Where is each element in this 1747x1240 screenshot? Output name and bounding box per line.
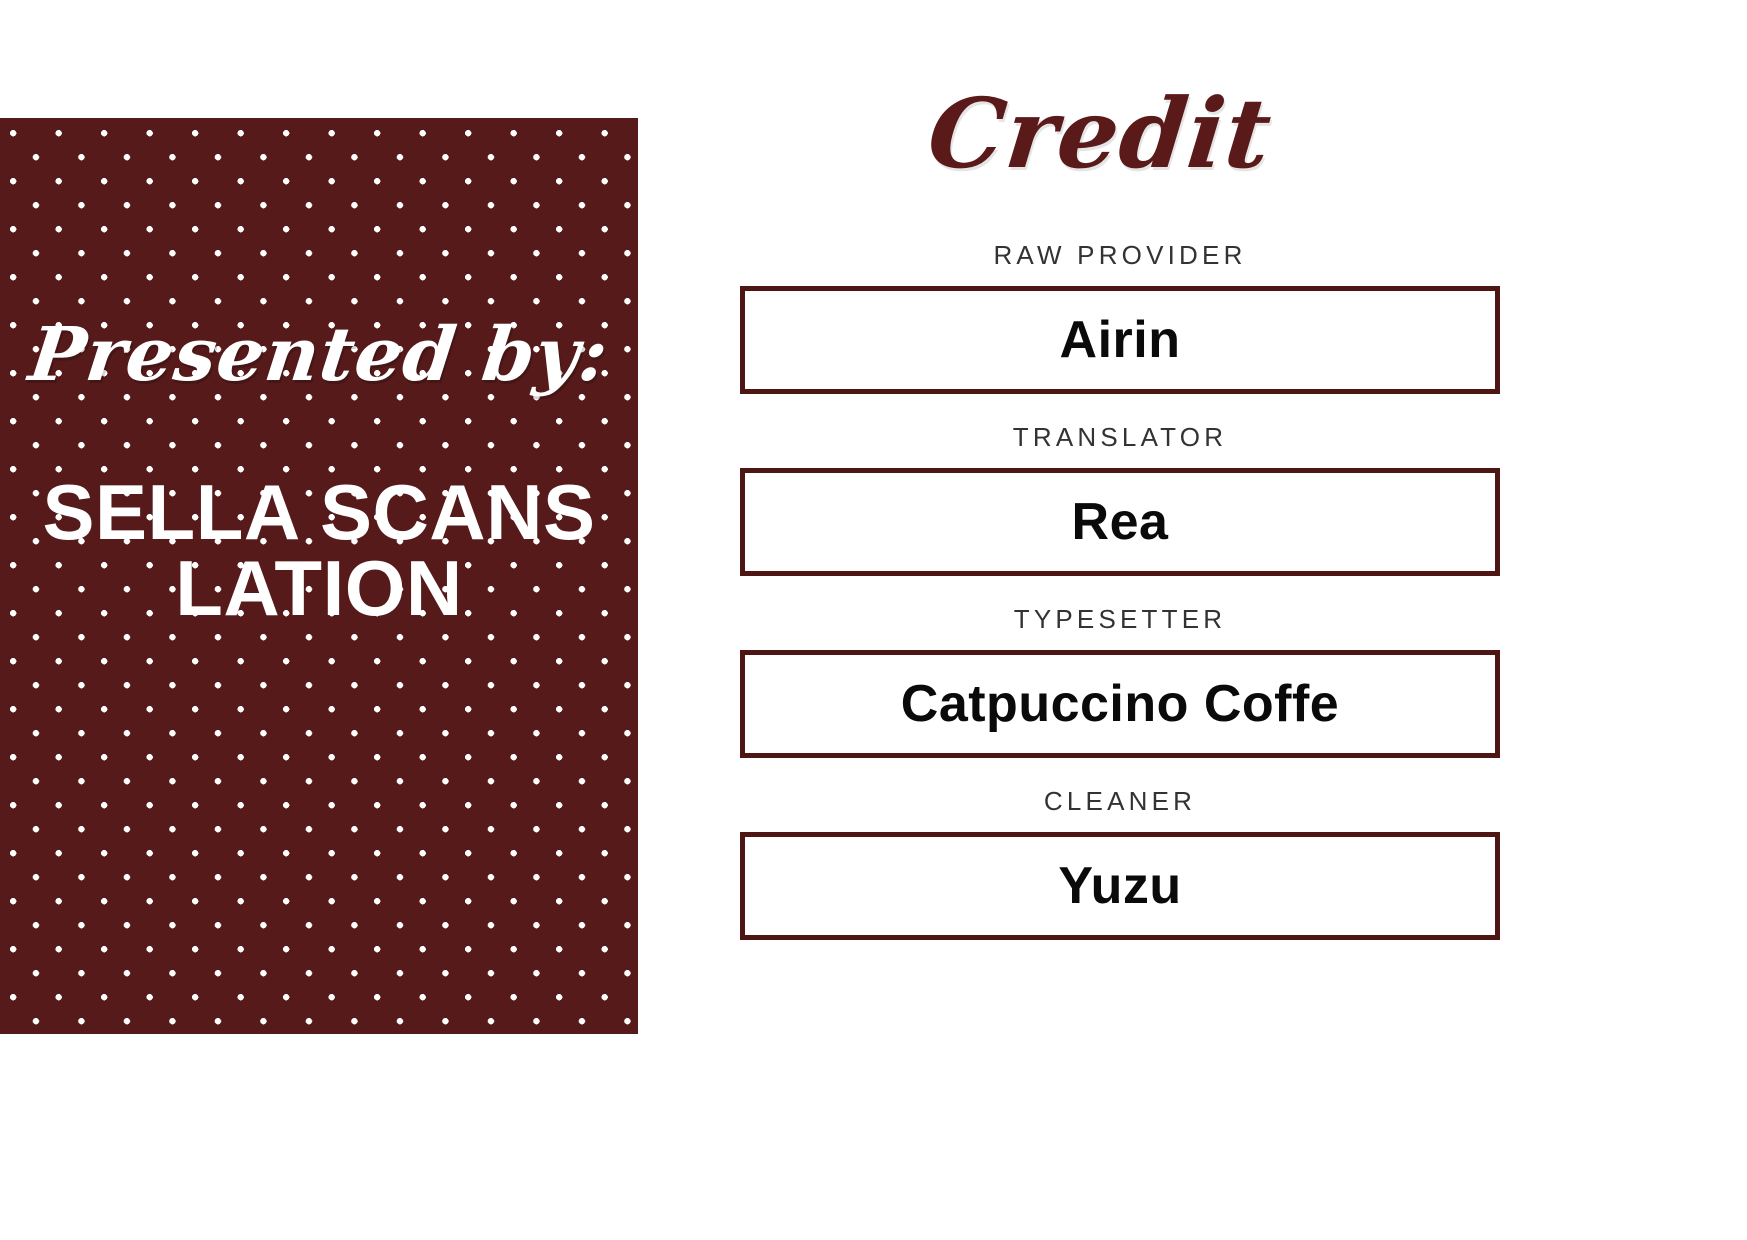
field-label-raw-provider: RAW PROVIDER [740,240,1500,271]
presented-by-panel: Presented by: SELLA SCANS LATION [0,118,638,1034]
field-box-translator[interactable]: Rea [740,468,1500,576]
field-label-translator: TRANSLATOR [740,422,1500,453]
field-value-raw-provider: Airin [1060,314,1181,366]
credit-field-translator: TRANSLATOR Rea [740,422,1500,576]
field-value-translator: Rea [1072,496,1169,548]
field-box-typesetter[interactable]: Catpuccino Coffe [740,650,1500,758]
field-label-cleaner: CLEANER [740,786,1500,817]
studio-name: SELLA SCANS LATION [0,474,638,627]
credit-page: Presented by: SELLA SCANS LATION Credit … [0,0,1747,1240]
field-label-typesetter: TYPESETTER [740,604,1500,635]
field-box-cleaner[interactable]: Yuzu [740,832,1500,940]
credit-panel: Credit RAW PROVIDER Airin TRANSLATOR Rea… [700,0,1747,1240]
field-value-typesetter: Catpuccino Coffe [901,678,1339,730]
credit-field-cleaner: CLEANER Yuzu [740,786,1500,940]
credit-field-raw-provider: RAW PROVIDER Airin [740,240,1500,394]
page-title: Credit [695,86,1505,182]
credit-fields-list: RAW PROVIDER Airin TRANSLATOR Rea TYPESE… [740,240,1500,940]
credit-field-typesetter: TYPESETTER Catpuccino Coffe [740,604,1500,758]
presented-by-heading: Presented by: [0,318,638,392]
presented-by-content: Presented by: SELLA SCANS LATION [0,118,638,627]
field-box-raw-provider[interactable]: Airin [740,286,1500,394]
field-value-cleaner: Yuzu [1058,860,1181,912]
